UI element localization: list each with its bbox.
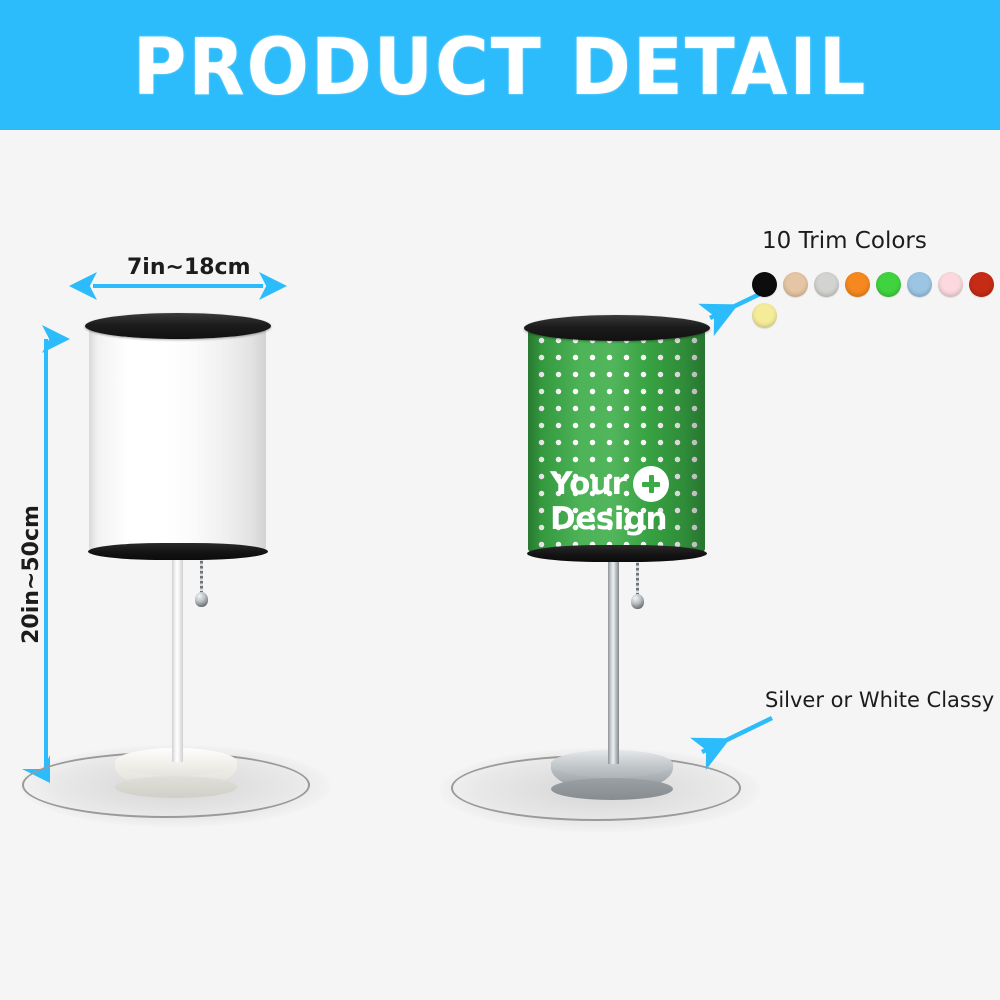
green-lamp-pole [608, 558, 619, 764]
page-title: PRODUCT DETAIL [30, 0, 970, 130]
artwork-line-2: Design [550, 502, 667, 536]
green-lamp-pull-chain-ball[interactable] [631, 594, 644, 609]
trim-swatch-orange[interactable] [845, 272, 870, 297]
trim-swatch-green[interactable] [876, 272, 901, 297]
white-lamp-pole [172, 556, 183, 762]
trim-colors-swatch-list [752, 272, 1000, 328]
green-lamp-top-trim [524, 315, 710, 341]
white-lamp-pull-chain-ball[interactable] [195, 592, 208, 607]
product-detail-page: PRODUCT DETAIL [0, 0, 1000, 1000]
white-lamp-base-bottom-edge [115, 776, 237, 798]
trim-swatch-pink[interactable] [938, 272, 963, 297]
white-lamp-shade-surface [89, 326, 266, 552]
green-lamp-base-bottom-edge [551, 778, 673, 800]
plus-icon [633, 466, 669, 502]
trim-colors-title: 10 Trim Colors [762, 228, 927, 254]
height-dimension-label: 20in~50cm [19, 505, 44, 644]
white-lamp-top-trim [85, 313, 271, 339]
trim-swatch-tan[interactable] [783, 272, 808, 297]
trim-swatch-light-blue[interactable] [907, 272, 932, 297]
trim-swatch-yellow[interactable] [752, 303, 777, 328]
trim-swatch-red[interactable] [969, 272, 994, 297]
green-lamp-bottom-trim [527, 545, 707, 562]
trim-swatch-light-gray[interactable] [814, 272, 839, 297]
white-lamp-bottom-trim [88, 543, 268, 560]
base-finish-label: Silver or White Classy [765, 688, 994, 712]
header-banner: PRODUCT DETAIL [0, 0, 1000, 130]
artwork-line-1: Your [550, 467, 626, 501]
white-lamp-pull-chain[interactable] [200, 556, 203, 596]
green-lamp-shade-surface: Your Design [528, 328, 705, 554]
width-dimension-label: 7in~18cm [127, 255, 251, 280]
trim-swatch-black[interactable] [752, 272, 777, 297]
green-lamp-pull-chain[interactable] [636, 558, 639, 598]
artwork-placeholder: Your Design [550, 466, 700, 536]
base-finish-arrow [690, 712, 780, 762]
